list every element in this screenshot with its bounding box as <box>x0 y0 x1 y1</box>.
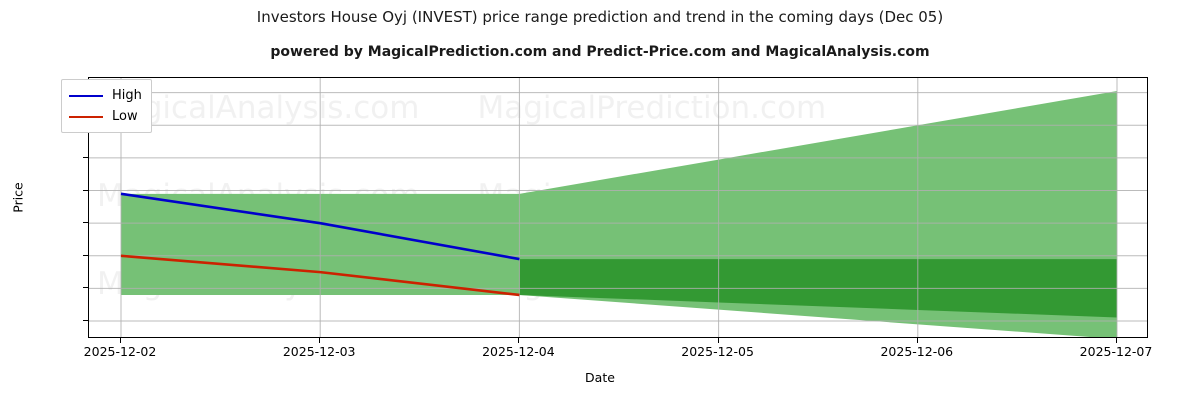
x-axis-label: Date <box>0 370 1200 385</box>
legend-label-low: Low <box>112 110 138 123</box>
x-tick-mark <box>718 338 719 343</box>
legend-item-low[interactable]: Low <box>69 106 142 127</box>
chart-title: Investors House Oyj (INVEST) price range… <box>0 8 1200 26</box>
x-tick-label: 2025-12-04 <box>448 344 588 359</box>
x-tick-label: 2025-12-07 <box>1046 344 1186 359</box>
plot-canvas <box>89 78 1148 338</box>
plot-area: MagicalAnalysis.comMagicalPrediction.com… <box>88 77 1148 338</box>
x-tick-mark <box>518 338 519 343</box>
legend-item-high[interactable]: High <box>69 85 142 106</box>
x-tick-label: 2025-12-03 <box>249 344 389 359</box>
x-tick-mark <box>1116 338 1117 343</box>
x-tick-mark <box>917 338 918 343</box>
x-tick-label: 2025-12-05 <box>648 344 788 359</box>
x-tick-mark <box>319 338 320 343</box>
y-axis-label: Price <box>11 158 26 238</box>
chart-subtitle: powered by MagicalPrediction.com and Pre… <box>0 44 1200 60</box>
x-tick-label: 2025-12-06 <box>847 344 987 359</box>
legend-swatch-low <box>69 116 103 118</box>
x-tick-label: 2025-12-02 <box>50 344 190 359</box>
legend-label-high: High <box>112 89 142 102</box>
legend-swatch-high <box>69 95 103 97</box>
x-tick-mark <box>120 338 121 343</box>
chart-legend[interactable]: High Low <box>61 79 152 133</box>
chart-figure: Investors House Oyj (INVEST) price range… <box>0 0 1200 400</box>
